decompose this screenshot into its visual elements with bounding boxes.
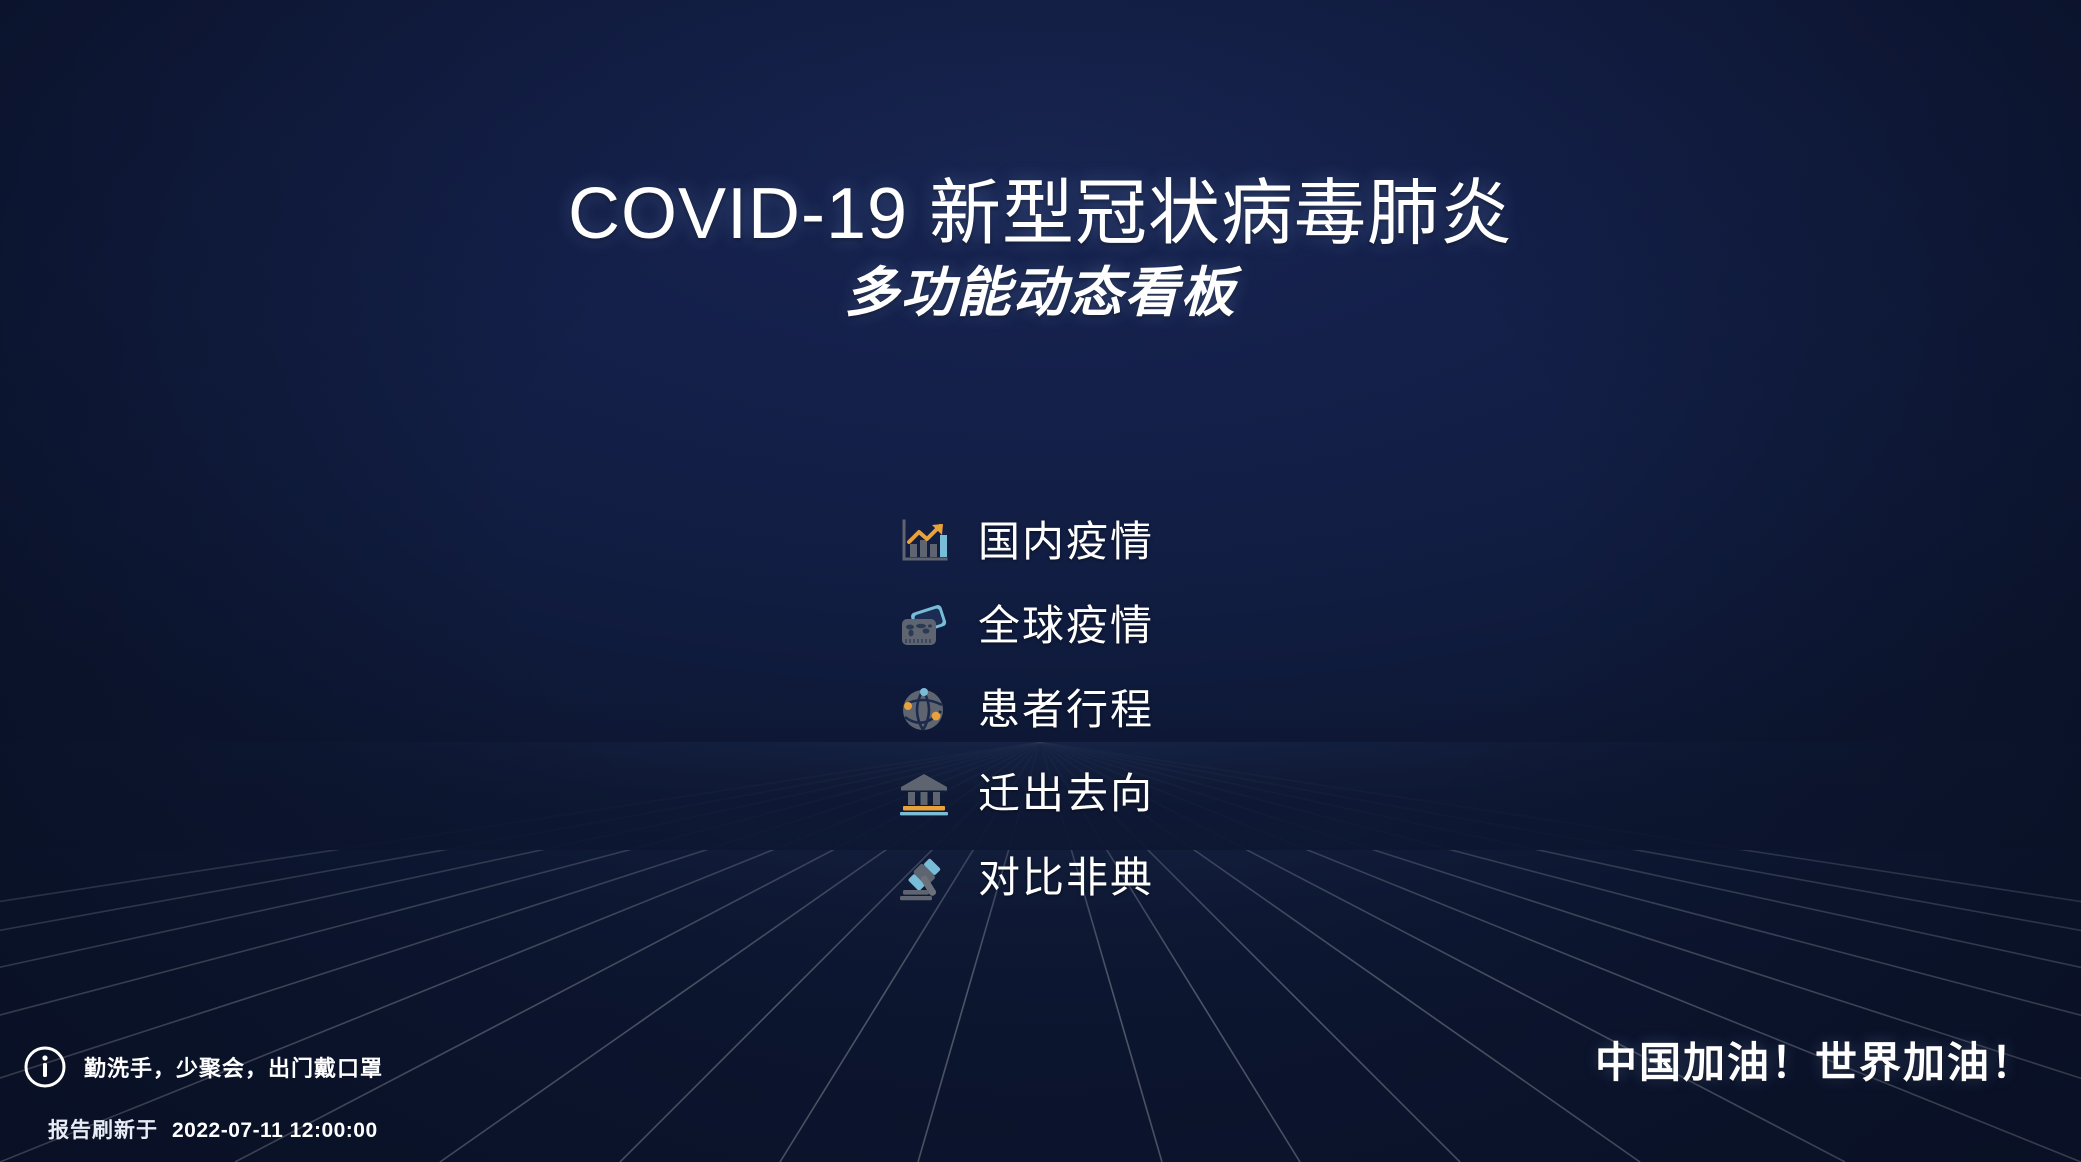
menu-item-label: 国内疫情 bbox=[978, 521, 1154, 563]
page-title: COVID-19 新型冠状病毒肺炎 bbox=[0, 176, 2081, 254]
menu-item-global-epidemic[interactable]: 全球疫情 bbox=[898, 602, 1154, 650]
menu-item-label: 迁出去向 bbox=[978, 773, 1154, 815]
title-block: COVID-19 新型冠状病毒肺炎 多功能动态看板 bbox=[0, 176, 2081, 323]
gavel-icon bbox=[898, 854, 950, 902]
bar-chart-trend-icon bbox=[898, 518, 950, 566]
globe-network-icon bbox=[898, 686, 950, 734]
main-menu: 国内疫情 bbox=[898, 518, 1154, 902]
menu-item-patient-travel[interactable]: 患者行程 bbox=[898, 686, 1154, 734]
health-tip-row: 勤洗手，少聚会，出门戴口罩 bbox=[22, 1044, 782, 1090]
refresh-timestamp: 2022-07-11 12:00:00 bbox=[172, 1119, 378, 1143]
menu-item-domestic-epidemic[interactable]: 国内疫情 bbox=[898, 518, 1154, 566]
info-circle-icon bbox=[22, 1044, 68, 1090]
menu-item-label: 全球疫情 bbox=[978, 605, 1154, 647]
menu-item-label: 对比非典 bbox=[978, 857, 1154, 899]
refresh-label: 报告刷新于 bbox=[48, 1114, 158, 1144]
slogan-text: 中国加油！世界加油！ bbox=[1595, 1029, 2035, 1090]
menu-item-label: 患者行程 bbox=[978, 689, 1154, 731]
refresh-row: 报告刷新于 2022-07-11 12:00:00 bbox=[22, 1114, 782, 1144]
page-subtitle: 多功能动态看板 bbox=[0, 264, 2081, 323]
world-map-card-icon bbox=[898, 602, 950, 650]
footer-left: 勤洗手，少聚会，出门戴口罩 报告刷新于 2022-07-11 12:00:00 bbox=[22, 1044, 782, 1144]
dashboard-cover-screen: COVID-19 新型冠状病毒肺炎 多功能动态看板 国内疫情 bbox=[0, 0, 2081, 1162]
menu-item-compare-sars[interactable]: 对比非典 bbox=[898, 854, 1154, 902]
health-tip-text: 勤洗手，少聚会，出门戴口罩 bbox=[84, 1051, 383, 1083]
bank-building-icon bbox=[898, 770, 950, 818]
menu-item-migration-destination[interactable]: 迁出去向 bbox=[898, 770, 1154, 818]
